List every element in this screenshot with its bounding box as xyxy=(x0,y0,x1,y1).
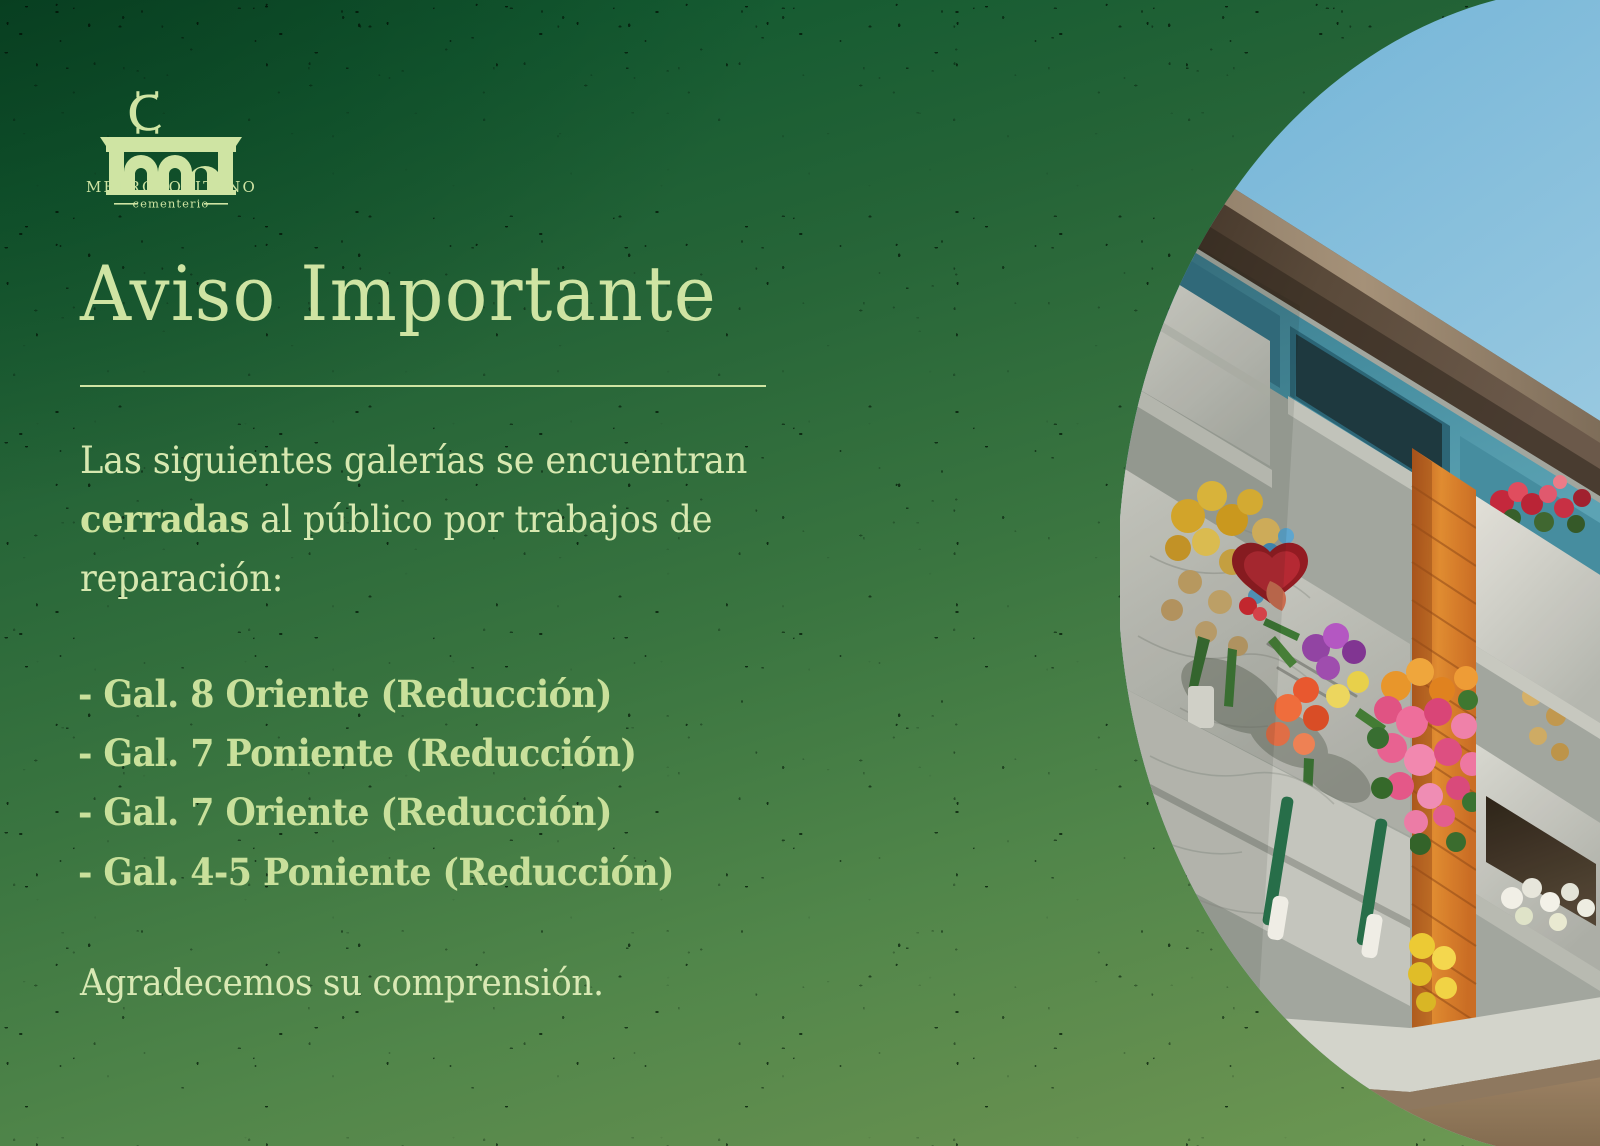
intro-text-before: Las siguientes galerías se encuentran xyxy=(80,439,747,482)
notice-intro-paragraph: Las siguientes galerías se encuentran ce… xyxy=(80,432,831,608)
logo-letter-c-icon xyxy=(130,91,161,134)
notice-poster: cementerio METROPOLITANO Aviso Important… xyxy=(0,0,1600,1146)
closed-galleries-list: - Gal. 8 Oriente (Reducción) - Gal. 7 Po… xyxy=(78,665,905,902)
list-item: - Gal. 7 Poniente (Reducción) xyxy=(78,724,905,783)
logo-name-line1: cementerio xyxy=(133,197,210,211)
list-item: - Gal. 7 Oriente (Reducción) xyxy=(78,783,905,842)
cemetery-photo-panel xyxy=(1120,0,1600,1146)
cemetery-niches-photo xyxy=(1120,0,1600,1146)
intro-text-emphasis: cerradas xyxy=(80,497,249,541)
list-item: - Gal. 8 Oriente (Reducción) xyxy=(78,665,905,724)
logo-name-line2: METROPOLITANO xyxy=(86,178,256,196)
flowers-pink-bottom-left xyxy=(1172,1012,1282,1101)
page-title: Aviso Importante xyxy=(80,254,717,334)
list-item: - Gal. 4-5 Poniente (Reducción) xyxy=(78,843,905,902)
title-divider xyxy=(80,385,766,387)
closing-message: Agradecemos su comprensión. xyxy=(80,963,604,1004)
